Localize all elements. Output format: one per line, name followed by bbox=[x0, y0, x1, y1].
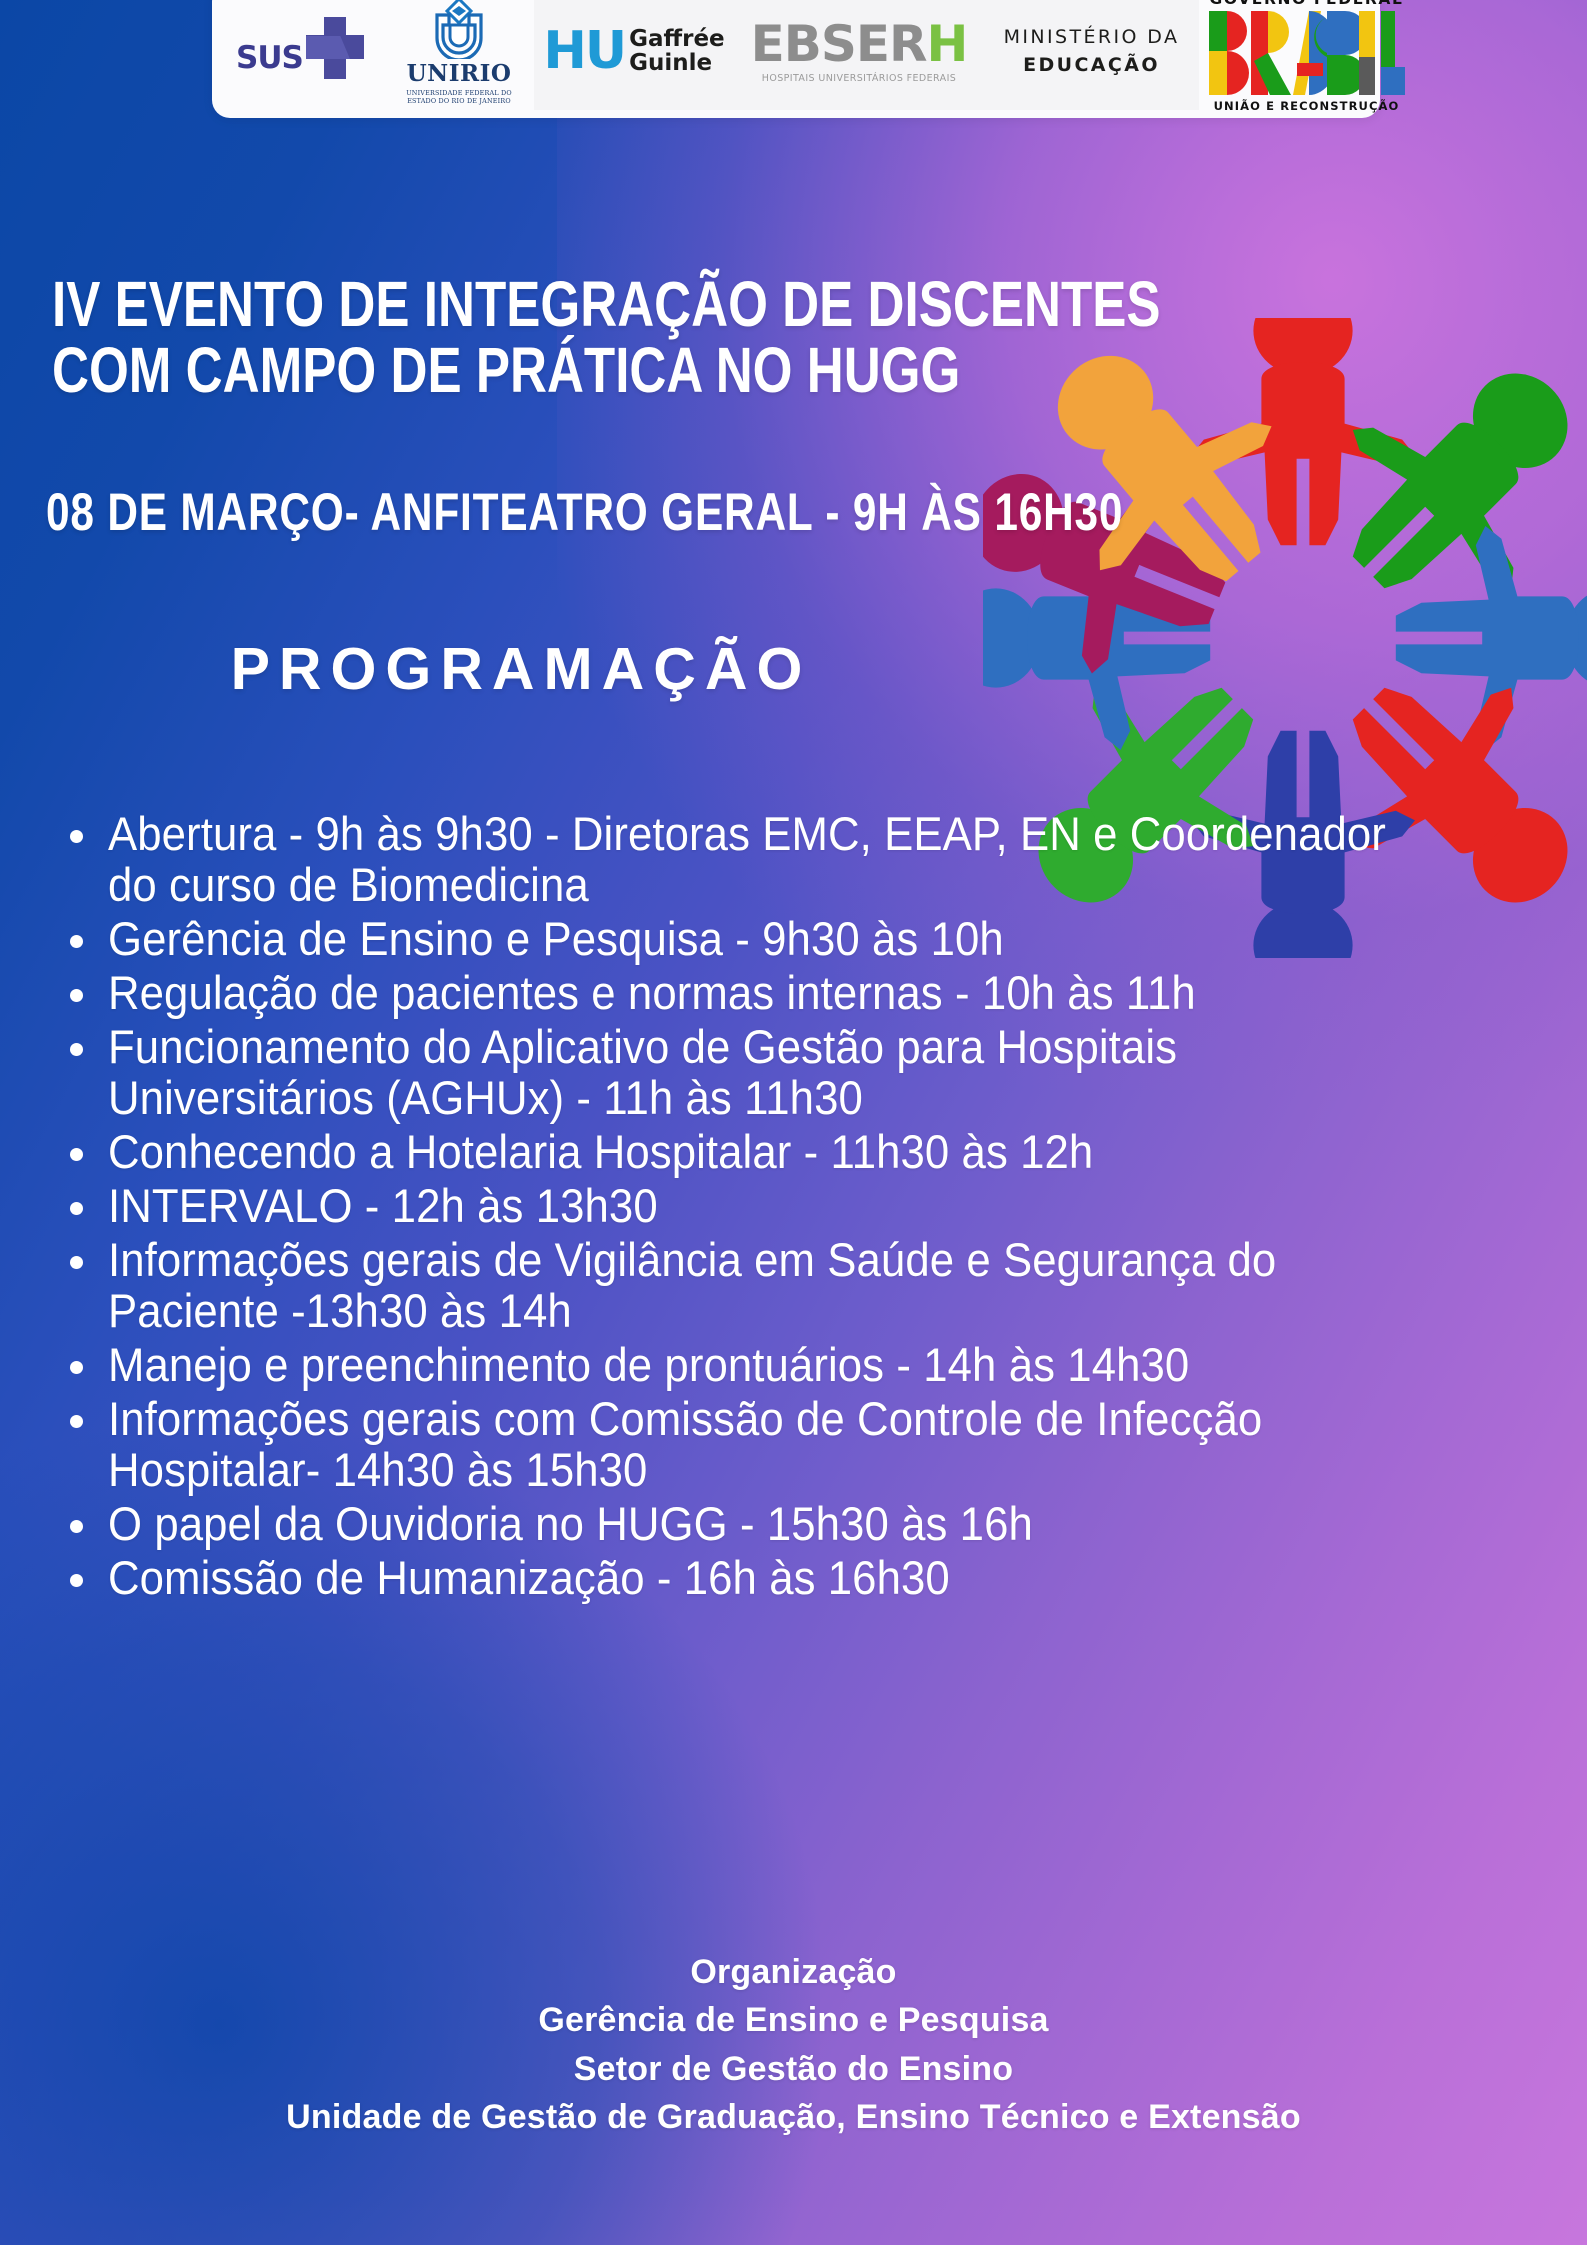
list-item: Regulação de pacientes e normas internas… bbox=[56, 967, 1536, 1018]
program-list: Abertura - 9h às 9h30 - Diretoras EMC, E… bbox=[56, 808, 1536, 1606]
footer-line-2: Gerência de Ensino e Pesquisa bbox=[0, 1996, 1587, 2044]
unirio-wordmark: UNIRIO bbox=[407, 60, 512, 87]
list-item: O papel da Ouvidoria no HUGG - 15h30 às … bbox=[56, 1498, 1536, 1549]
ebserh-wordmark: EBSERH bbox=[751, 19, 968, 69]
list-item: Comissão de Humanização - 16h às 16h30 bbox=[56, 1552, 1536, 1603]
list-item: Informações gerais com Comissão de Contr… bbox=[56, 1393, 1536, 1495]
program-heading: PROGRAMAÇÃO bbox=[0, 635, 1042, 703]
list-item: Funcionamento do Aplicativo de Gestão pa… bbox=[56, 1021, 1536, 1123]
footer-line-3: Setor de Gestão do Ensino bbox=[0, 2045, 1587, 2093]
mec-line-1: MINISTÉRIO DA bbox=[1004, 23, 1180, 52]
ebserh-logo: EBSERH HOSPITAIS UNIVERSITÁRIOS FEDERAIS bbox=[734, 0, 984, 110]
list-item: Gerência de Ensino e Pesquisa - 9h30 às … bbox=[56, 913, 1536, 964]
hu-letters: HU bbox=[543, 29, 625, 74]
ebserh-subtitle: HOSPITAIS UNIVERSITÁRIOS FEDERAIS bbox=[762, 73, 956, 84]
footer-line-4: Unidade de Gestão de Graduação, Ensino T… bbox=[0, 2093, 1587, 2141]
list-item: Manejo e preenchimento de prontuários - … bbox=[56, 1339, 1536, 1390]
governo-federal-logo: GOVERNO FEDERAL bbox=[1199, 0, 1414, 110]
hu-gaffree-guinle-logo: HU Gaffrée Guinle bbox=[534, 0, 734, 110]
event-date-location: 08 DE MARÇO- ANFITEATRO GERAL - 9H ÀS 16… bbox=[46, 486, 1166, 539]
sus-cross-icon bbox=[306, 17, 364, 79]
brasil-wordmark-icon bbox=[1209, 11, 1405, 95]
mec-line-2: EDUCAÇÃO bbox=[1023, 51, 1160, 80]
unirio-logo: UNIRIO UNIVERSIDADE FEDERAL DO ESTADO DO… bbox=[384, 0, 534, 110]
organization-footer: Organização Gerência de Ensino e Pesquis… bbox=[0, 1948, 1587, 2141]
sus-logo: SUS bbox=[220, 0, 384, 110]
title-line-1: IV EVENTO DE INTEGRAÇÃO DE DISCENTES bbox=[52, 271, 1140, 338]
poster-title: IV EVENTO DE INTEGRAÇÃO DE DISCENTES COM… bbox=[52, 271, 1140, 404]
governo-federal-tagline: UNIÃO E RECONSTRUÇÃO bbox=[1214, 99, 1400, 113]
footer-line-1: Organização bbox=[0, 1948, 1587, 1996]
list-item: Informações gerais de Vigilância em Saúd… bbox=[56, 1234, 1536, 1336]
list-item: Conhecendo a Hotelaria Hospitalar - 11h3… bbox=[56, 1126, 1536, 1177]
unirio-subtitle: UNIVERSIDADE FEDERAL DO ESTADO DO RIO DE… bbox=[394, 89, 524, 105]
governo-federal-label: GOVERNO FEDERAL bbox=[1210, 0, 1404, 8]
institutional-logo-bar: SUS UNIRIO UNIVERSIDADE FEDERAL DO ESTAD… bbox=[212, 0, 1380, 118]
poster-canvas: SUS UNIRIO UNIVERSIDADE FEDERAL DO ESTAD… bbox=[0, 0, 1587, 2245]
list-item: Abertura - 9h às 9h30 - Diretoras EMC, E… bbox=[56, 808, 1536, 910]
hu-wordmark: Gaffrée Guinle bbox=[629, 27, 725, 75]
ministerio-educacao-logo: MINISTÉRIO DA EDUCAÇÃO bbox=[984, 0, 1199, 110]
sus-wordmark: SUS bbox=[236, 40, 303, 76]
title-line-2: COM CAMPO DE PRÁTICA NO HUGG bbox=[52, 337, 1140, 404]
unirio-emblem-icon bbox=[427, 0, 491, 59]
list-item: INTERVALO - 12h às 13h30 bbox=[56, 1180, 1536, 1231]
